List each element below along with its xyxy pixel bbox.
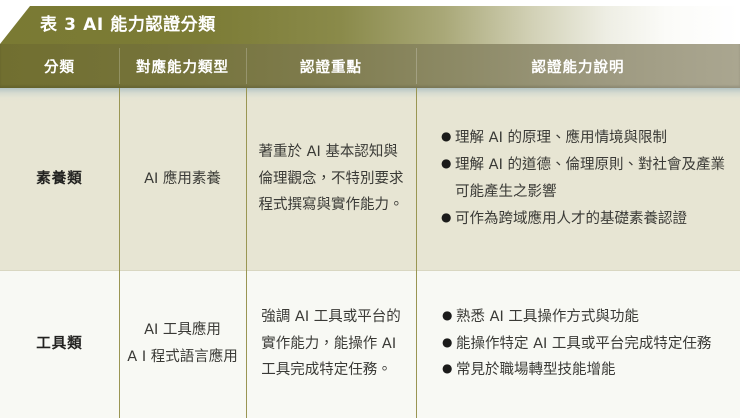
bullet-icon: ● (441, 152, 455, 174)
list-item: ● 常見於職場轉型技能增能 (442, 357, 724, 384)
table-title: 表 3 AI 能力認證分類 (40, 6, 216, 44)
focus-line: 強調 AI 工具或平台的 (261, 304, 400, 331)
focus-line: 倫理觀念，不特別要求 (259, 166, 404, 193)
focus-line: 工具完成特定任務。 (261, 357, 400, 384)
row-description-cell: ● 熟悉 AI 工具操作方式與功能 ● 能操作特定 AI 工具或平台完成特定任務… (416, 270, 740, 418)
bullet-line: 可作為跨域應用人才的基礎素養認證 (455, 206, 725, 233)
bullet-line: 常見於職場轉型技能增能 (456, 357, 724, 384)
table-header-row: 分類 對應能力類型 認證重點 認證能力說明 (0, 44, 740, 88)
bullet-icon: ● (442, 331, 456, 353)
focus-line: 著重於 AI 基本認知與 (259, 139, 404, 166)
list-item: ● 熟悉 AI 工具操作方式與功能 (442, 304, 724, 331)
bullet-line: 能操作特定 AI 工具或平台完成特定任務 (456, 331, 724, 358)
ability-type-line: AI 工具應用 (144, 317, 221, 344)
bullet-icon: ● (442, 304, 456, 326)
bullet-icon: ● (441, 206, 455, 228)
column-header-description: 認證能力說明 (416, 44, 740, 88)
row-description-cell: ● 理解 AI 的原理、應用情境與限制 ● 理解 AI 的道德、倫理原則、對社會… (416, 88, 740, 270)
list-item: ● 可作為跨域應用人才的基礎素養認證 (441, 206, 725, 233)
bullet-line: 理解 AI 的道德、倫理原則、對社會及產業 (455, 152, 725, 179)
bullet-line: 理解 AI 的原理、應用情境與限制 (455, 125, 725, 152)
row-category-cell: 素養類 (0, 88, 119, 270)
bullet-icon: ● (441, 125, 455, 147)
bullet-line: 熟悉 AI 工具操作方式與功能 (456, 304, 724, 331)
bullet-line: 可能產生之影響 (455, 179, 725, 206)
row-ability-type-cell: AI 應用素養 (119, 88, 246, 270)
ability-type-line: AI 應用素養 (144, 166, 221, 193)
column-header-category: 分類 (0, 44, 119, 88)
focus-line: 程式撰寫與實作能力。 (259, 192, 404, 219)
row-focus-cell: 著重於 AI 基本認知與 倫理觀念，不特別要求 程式撰寫與實作能力。 (246, 88, 416, 270)
ai-capability-certification-table: 表 3 AI 能力認證分類 分類 對應能力類型 認證重點 認證能力說明 素養類 … (0, 0, 740, 418)
row-ability-type-cell: AI 工具應用 A I 程式語言應用 (119, 270, 246, 418)
column-header-ability-type: 對應能力類型 (119, 44, 246, 88)
focus-line: 實作能力，能操作 AI (261, 331, 400, 358)
column-header-focus: 認證重點 (246, 44, 416, 88)
table-row: 工具類 AI 工具應用 A I 程式語言應用 強調 AI 工具或平台的 實作能力… (0, 270, 740, 418)
row-category-cell: 工具類 (0, 270, 119, 418)
bullet-icon: ● (442, 357, 456, 379)
ability-type-line: A I 程式語言應用 (127, 344, 237, 371)
row-focus-cell: 強調 AI 工具或平台的 實作能力，能操作 AI 工具完成特定任務。 (246, 270, 416, 418)
list-item: ● 理解 AI 的道德、倫理原則、對社會及產業 可能產生之影響 (441, 152, 725, 206)
table-title-banner: 表 3 AI 能力認證分類 (0, 6, 740, 44)
table-body: 素養類 AI 應用素養 著重於 AI 基本認知與 倫理觀念，不特別要求 程式撰寫… (0, 88, 740, 418)
list-item: ● 理解 AI 的原理、應用情境與限制 (441, 125, 725, 152)
list-item: ● 能操作特定 AI 工具或平台完成特定任務 (442, 331, 724, 358)
table-row: 素養類 AI 應用素養 著重於 AI 基本認知與 倫理觀念，不特別要求 程式撰寫… (0, 88, 740, 270)
